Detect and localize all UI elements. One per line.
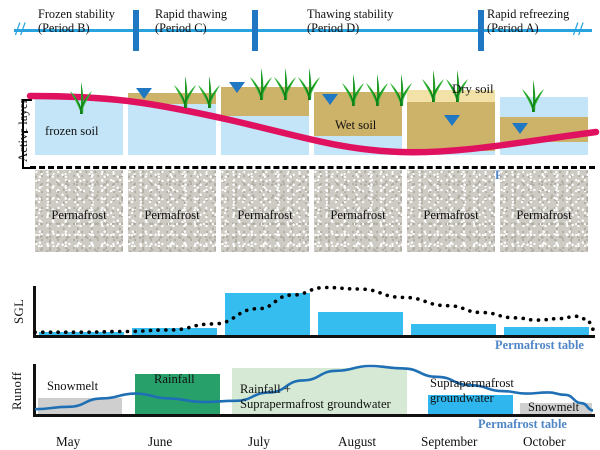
permafrost-block: Permafrost: [500, 170, 588, 252]
permafrost-block: Permafrost: [35, 170, 123, 252]
water-table-triangle-icon: [136, 88, 152, 99]
permafrost-block-label: Permafrost: [500, 208, 588, 223]
runoff-chart-section: Runoff SnowmeltRainfallRainfall +Suprape…: [0, 358, 600, 450]
month-label: May: [56, 434, 80, 450]
sgl-overlay-curve: [0, 282, 600, 344]
grass-plant-icon: [172, 74, 198, 113]
grass-plant-icon: [296, 66, 322, 105]
month-label: July: [248, 434, 270, 450]
grass-plant-icon: [520, 78, 546, 117]
runoff-bar-label: Rainfall: [154, 372, 195, 387]
soil-profile-section: Active layer: [0, 0, 600, 260]
runoff-bar-label: Suprapermafrost: [430, 376, 514, 391]
permafrost-table-label-runoff: Permafrost table: [478, 417, 567, 432]
annotation-wet-soil: Wet soil: [335, 118, 376, 133]
runoff-bar-label: Snowmelt: [528, 400, 579, 415]
permafrost-block: Permafrost: [407, 170, 495, 252]
grass-plant-icon: [340, 72, 366, 111]
month-label: October: [523, 434, 565, 450]
grass-plant-icon: [420, 68, 446, 107]
grass-plant-icon: [196, 74, 222, 113]
permafrost-block-label: Permafrost: [221, 208, 309, 223]
grass-plant-icon: [248, 66, 274, 105]
month-label: August: [338, 434, 376, 450]
grass-plant-icon: [388, 72, 414, 111]
runoff-bar-label: Rainfall +: [240, 382, 291, 397]
water-table-triangle-icon: [444, 115, 460, 126]
month-label: June: [148, 434, 172, 450]
grass-plant-icon: [364, 72, 390, 111]
permafrost-block-label: Permafrost: [128, 208, 216, 223]
runoff-bar-label: Suprapermafrost groundwater: [240, 397, 391, 412]
permafrost-block: Permafrost: [314, 170, 402, 252]
grass-plant-icon: [272, 66, 298, 105]
water-table-triangle-icon: [229, 82, 245, 93]
runoff-bar-label: groundwater: [430, 391, 494, 406]
water-table-triangle-icon: [512, 123, 528, 134]
month-label: September: [421, 434, 477, 450]
water-table-triangle-icon: [322, 94, 338, 105]
permafrost-block-label: Permafrost: [35, 208, 123, 223]
sgl-chart-section: SGL Permafrost table: [0, 282, 600, 344]
runoff-bar-label: Snowmelt: [47, 379, 98, 394]
annotation-frozen-soil: frozen soil: [45, 124, 99, 139]
permafrost-block: Permafrost: [221, 170, 309, 252]
permafrost-block-label: Permafrost: [314, 208, 402, 223]
grass-plant-icon: [68, 80, 94, 119]
permafrost-block-label: Permafrost: [407, 208, 495, 223]
permafrost-block: Permafrost: [128, 170, 216, 252]
permafrost-table-label-sgl: Permafrost table: [495, 338, 584, 353]
annotation-dry-soil: Dry soil: [452, 82, 494, 97]
